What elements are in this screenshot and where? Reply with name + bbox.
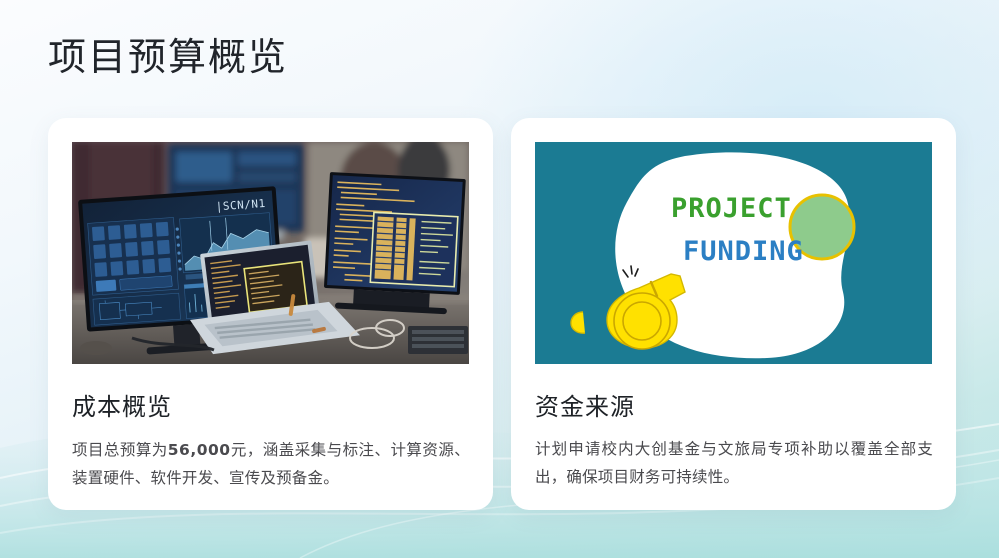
- card-funding-source: PROJECT FUNDING 资金来源 计划申请校内: [511, 118, 956, 510]
- card-body-text: 计划申请校内大创基金与文旅局专项补助以覆盖全部支出，确保项目财务可持续性。: [535, 441, 933, 486]
- card-title: 资金来源: [535, 392, 635, 424]
- illustration-word-bottom: FUNDING: [683, 236, 804, 267]
- project-funding-illustration: PROJECT FUNDING: [535, 142, 932, 364]
- card-body: 计划申请校内大创基金与文旅局专项补助以覆盖全部支出，确保项目财务可持续性。: [535, 436, 933, 492]
- illustration-word-top: PROJECT: [671, 193, 792, 224]
- page-title: 项目预算概览: [48, 34, 288, 82]
- slide-canvas: 项目预算概览: [0, 0, 999, 558]
- card-body-prefix: 项目总预算为: [72, 442, 168, 459]
- card-body: 项目总预算为56,000元，涵盖采集与标注、计算资源、装置硬件、软件开发、宣传及…: [72, 436, 470, 493]
- workstation-monitors-photo: |SCN/N1: [72, 142, 469, 364]
- card-cost-overview: |SCN/N1: [48, 118, 493, 510]
- card-title: 成本概览: [72, 392, 172, 424]
- budget-amount: 56,000: [168, 441, 231, 459]
